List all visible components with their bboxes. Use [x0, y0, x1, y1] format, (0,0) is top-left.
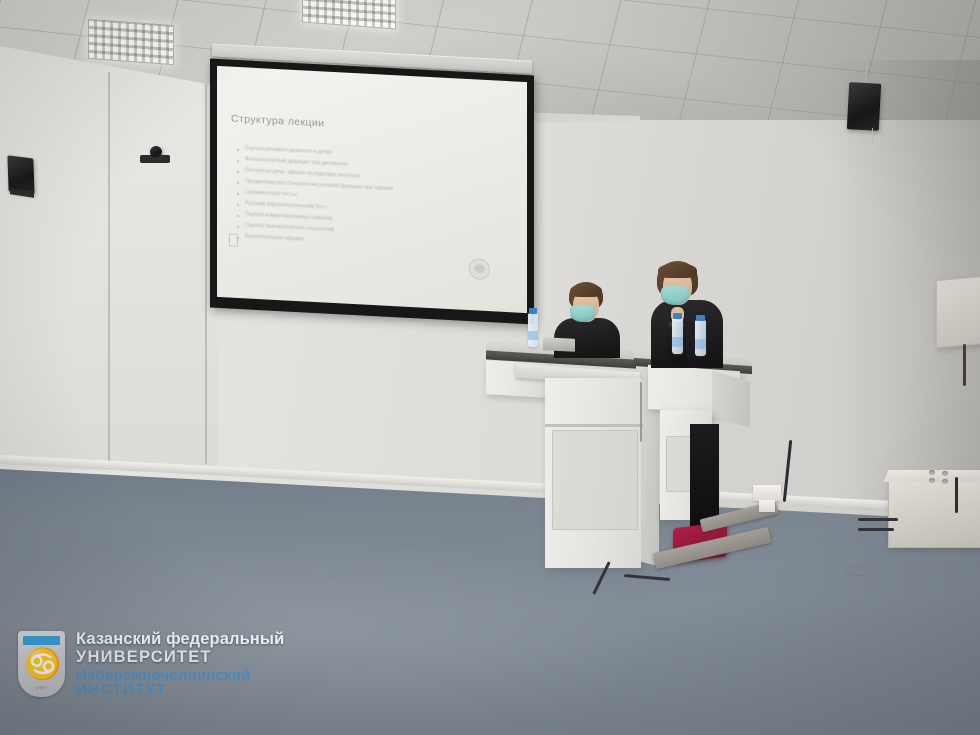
water-bottle: [695, 320, 706, 356]
bottle-cap-icon: [673, 313, 682, 319]
equipment-port-icon: [929, 470, 935, 475]
floor-cover-plate: [845, 566, 873, 576]
floor-outlet-box: [753, 485, 781, 501]
speaker-cable: [866, 62, 867, 84]
lecture-hall-photograph: Структура лекции Оценка речевого развити…: [0, 0, 980, 735]
university-seal-watermark-icon: [469, 258, 490, 280]
shield-caption: КФУ: [18, 686, 65, 692]
wall-mounted-panel: [936, 276, 980, 348]
kfu-logo-line-4: ИНСТИТУТ: [76, 682, 284, 699]
presenter-left-face-mask: [570, 305, 595, 322]
slide-bullet-list: Оценка речевого развития у детей Фонолог…: [237, 146, 393, 248]
kfu-logo-line-2: УНИВЕРСИТЕТ: [76, 648, 284, 666]
kfu-logo-text: Казанский федеральный УНИВЕРСИТЕТ Набере…: [76, 630, 284, 699]
bottle-cap-icon: [696, 315, 705, 321]
floor-cable: [858, 518, 898, 521]
floor-cable: [858, 528, 894, 531]
kfu-shield-icon: ♋ КФУ: [18, 631, 65, 697]
presenter-left-fringe: [570, 284, 602, 297]
water-bottle: [528, 313, 538, 347]
shield-blue-bar: [23, 636, 60, 645]
wall-speaker-right: [847, 82, 881, 131]
speaker-cable: [872, 128, 873, 144]
equipment-port-icon: [942, 471, 948, 476]
floor-outlet-box-foot: [759, 500, 775, 512]
recessed-louver-light: [88, 19, 174, 65]
bottle-label: [672, 337, 683, 347]
podium-center-panel: [552, 430, 638, 530]
speaker-mount-head: [150, 146, 162, 158]
beige-equipment-cabinet: [888, 478, 980, 548]
slide-bullet: Билингвальная афазия: [237, 234, 393, 248]
kfu-logo: ♋ КФУ Казанский федеральный УНИВЕРСИТЕТ …: [18, 630, 284, 699]
wall-trim-line: [205, 84, 207, 464]
water-bottle: [672, 318, 683, 354]
equipment-port-icon: [942, 479, 948, 484]
bottle-label: [695, 339, 706, 349]
presenter-right-torso: [651, 300, 723, 368]
equipment-port-icon: [929, 478, 935, 483]
podium-center-seam: [545, 424, 643, 427]
projection-screen-surface: Структура лекции Оценка речевого развити…: [217, 66, 527, 313]
kfu-logo-line-1: Казанский федеральный: [76, 630, 284, 648]
wall-trim-line: [108, 72, 110, 462]
podium-cable: [640, 382, 642, 442]
slide-title: Структура лекции: [231, 113, 324, 130]
presenter-right-fringe: [658, 263, 697, 278]
bottle-label: [528, 331, 538, 340]
winged-snake-icon: ♋: [24, 648, 60, 682]
hanging-cable: [963, 344, 966, 386]
laptop: [543, 337, 575, 352]
floor-reflection: [0, 520, 980, 735]
bottle-cap-icon: [529, 308, 537, 314]
equipment-cable: [955, 477, 958, 513]
presenter-right-face-mask: [661, 286, 689, 305]
